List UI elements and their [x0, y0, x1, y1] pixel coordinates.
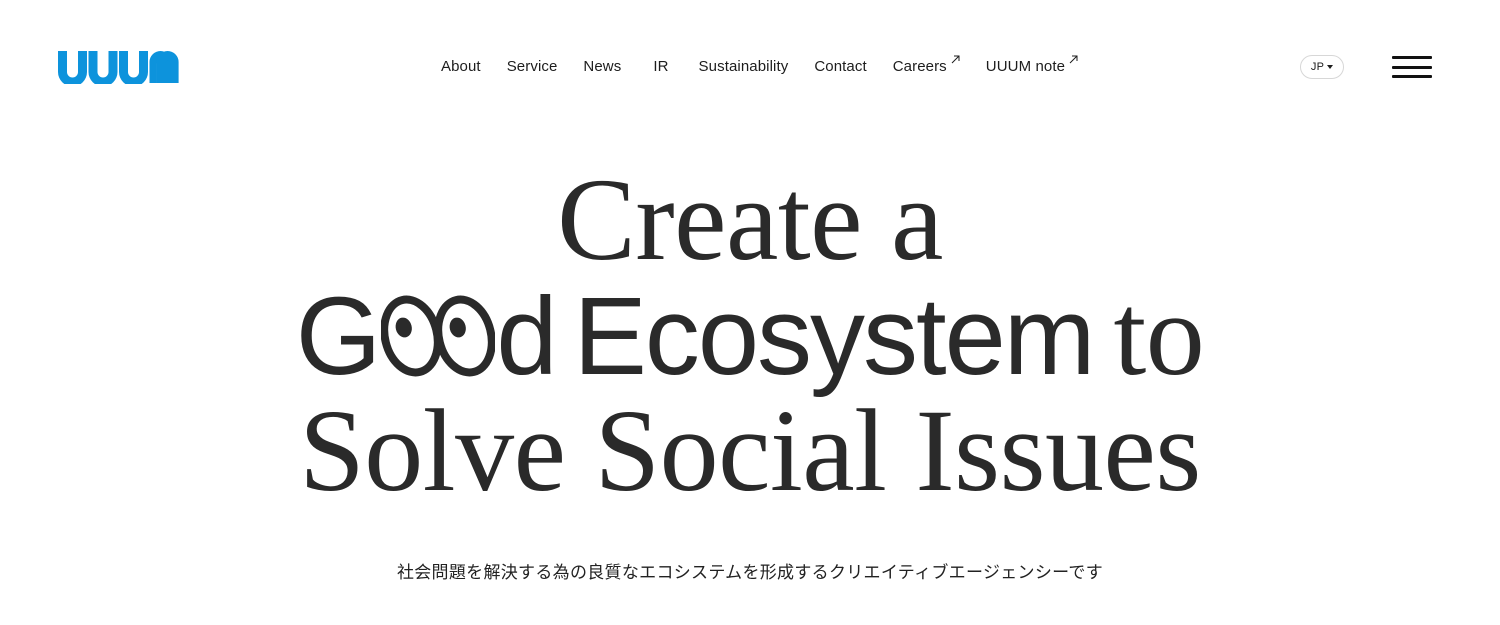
nav-item-uuum-note[interactable]: UUUM note [986, 57, 1078, 77]
headline-good-d: d [496, 275, 555, 398]
hamburger-bar [1392, 75, 1432, 78]
hamburger-menu-icon[interactable] [1392, 56, 1432, 78]
nav-item-label: About [441, 57, 481, 77]
landing-page: About Service News IR Sustainability Con… [0, 0, 1500, 625]
chevron-down-icon [1327, 65, 1333, 69]
headline-line-2: G dEcosystemto [0, 278, 1500, 393]
eyes-oo-icon [381, 294, 495, 378]
hero-subtitle: 社会問題を解決する為の良質なエコシステムを形成するクリエイティブエージェンシーで… [0, 559, 1500, 587]
headline-line-3: Solve Social Issues [0, 395, 1500, 507]
language-selector-value: JP [1311, 62, 1324, 73]
arrow-up-right-icon [1069, 55, 1078, 64]
headline-line-1: Create a [0, 164, 1500, 276]
nav-item-label: News [583, 57, 621, 77]
language-selector[interactable]: JP [1300, 55, 1344, 79]
nav-item-label: IR [653, 57, 668, 77]
hamburger-bar [1392, 66, 1432, 69]
page-title: Create a G dEcosystemto Solve Social Iss… [0, 164, 1500, 507]
nav-item-sustainability[interactable]: Sustainability [699, 57, 789, 77]
nav-item-contact[interactable]: Contact [814, 57, 866, 77]
hamburger-bar [1392, 56, 1432, 59]
nav-item-label: Careers [893, 57, 947, 77]
nav-item-label: Contact [814, 57, 866, 77]
nav-item-label: Sustainability [699, 57, 789, 77]
nav-item-news[interactable]: News [583, 57, 621, 77]
arrow-up-right-icon [951, 55, 960, 64]
hero-section: Create a G dEcosystemto Solve Social Iss… [0, 134, 1500, 587]
nav-item-careers[interactable]: Careers [893, 57, 960, 77]
nav-item-label: UUUM note [986, 57, 1065, 77]
nav-item-label: Service [507, 57, 558, 77]
uuum-logo[interactable] [57, 50, 179, 84]
headline-good-g: G [296, 275, 380, 398]
nav-item-ir[interactable]: IR [653, 57, 668, 77]
headline-to: to [1113, 269, 1204, 400]
nav-item-about[interactable]: About [441, 57, 481, 77]
site-header: About Service News IR Sustainability Con… [0, 0, 1500, 134]
nav-item-service[interactable]: Service [507, 57, 558, 77]
uuum-logo-icon [57, 50, 179, 84]
primary-nav: About Service News IR Sustainability Con… [441, 57, 1078, 77]
headline-ecosystem: Ecosystem [574, 275, 1094, 398]
